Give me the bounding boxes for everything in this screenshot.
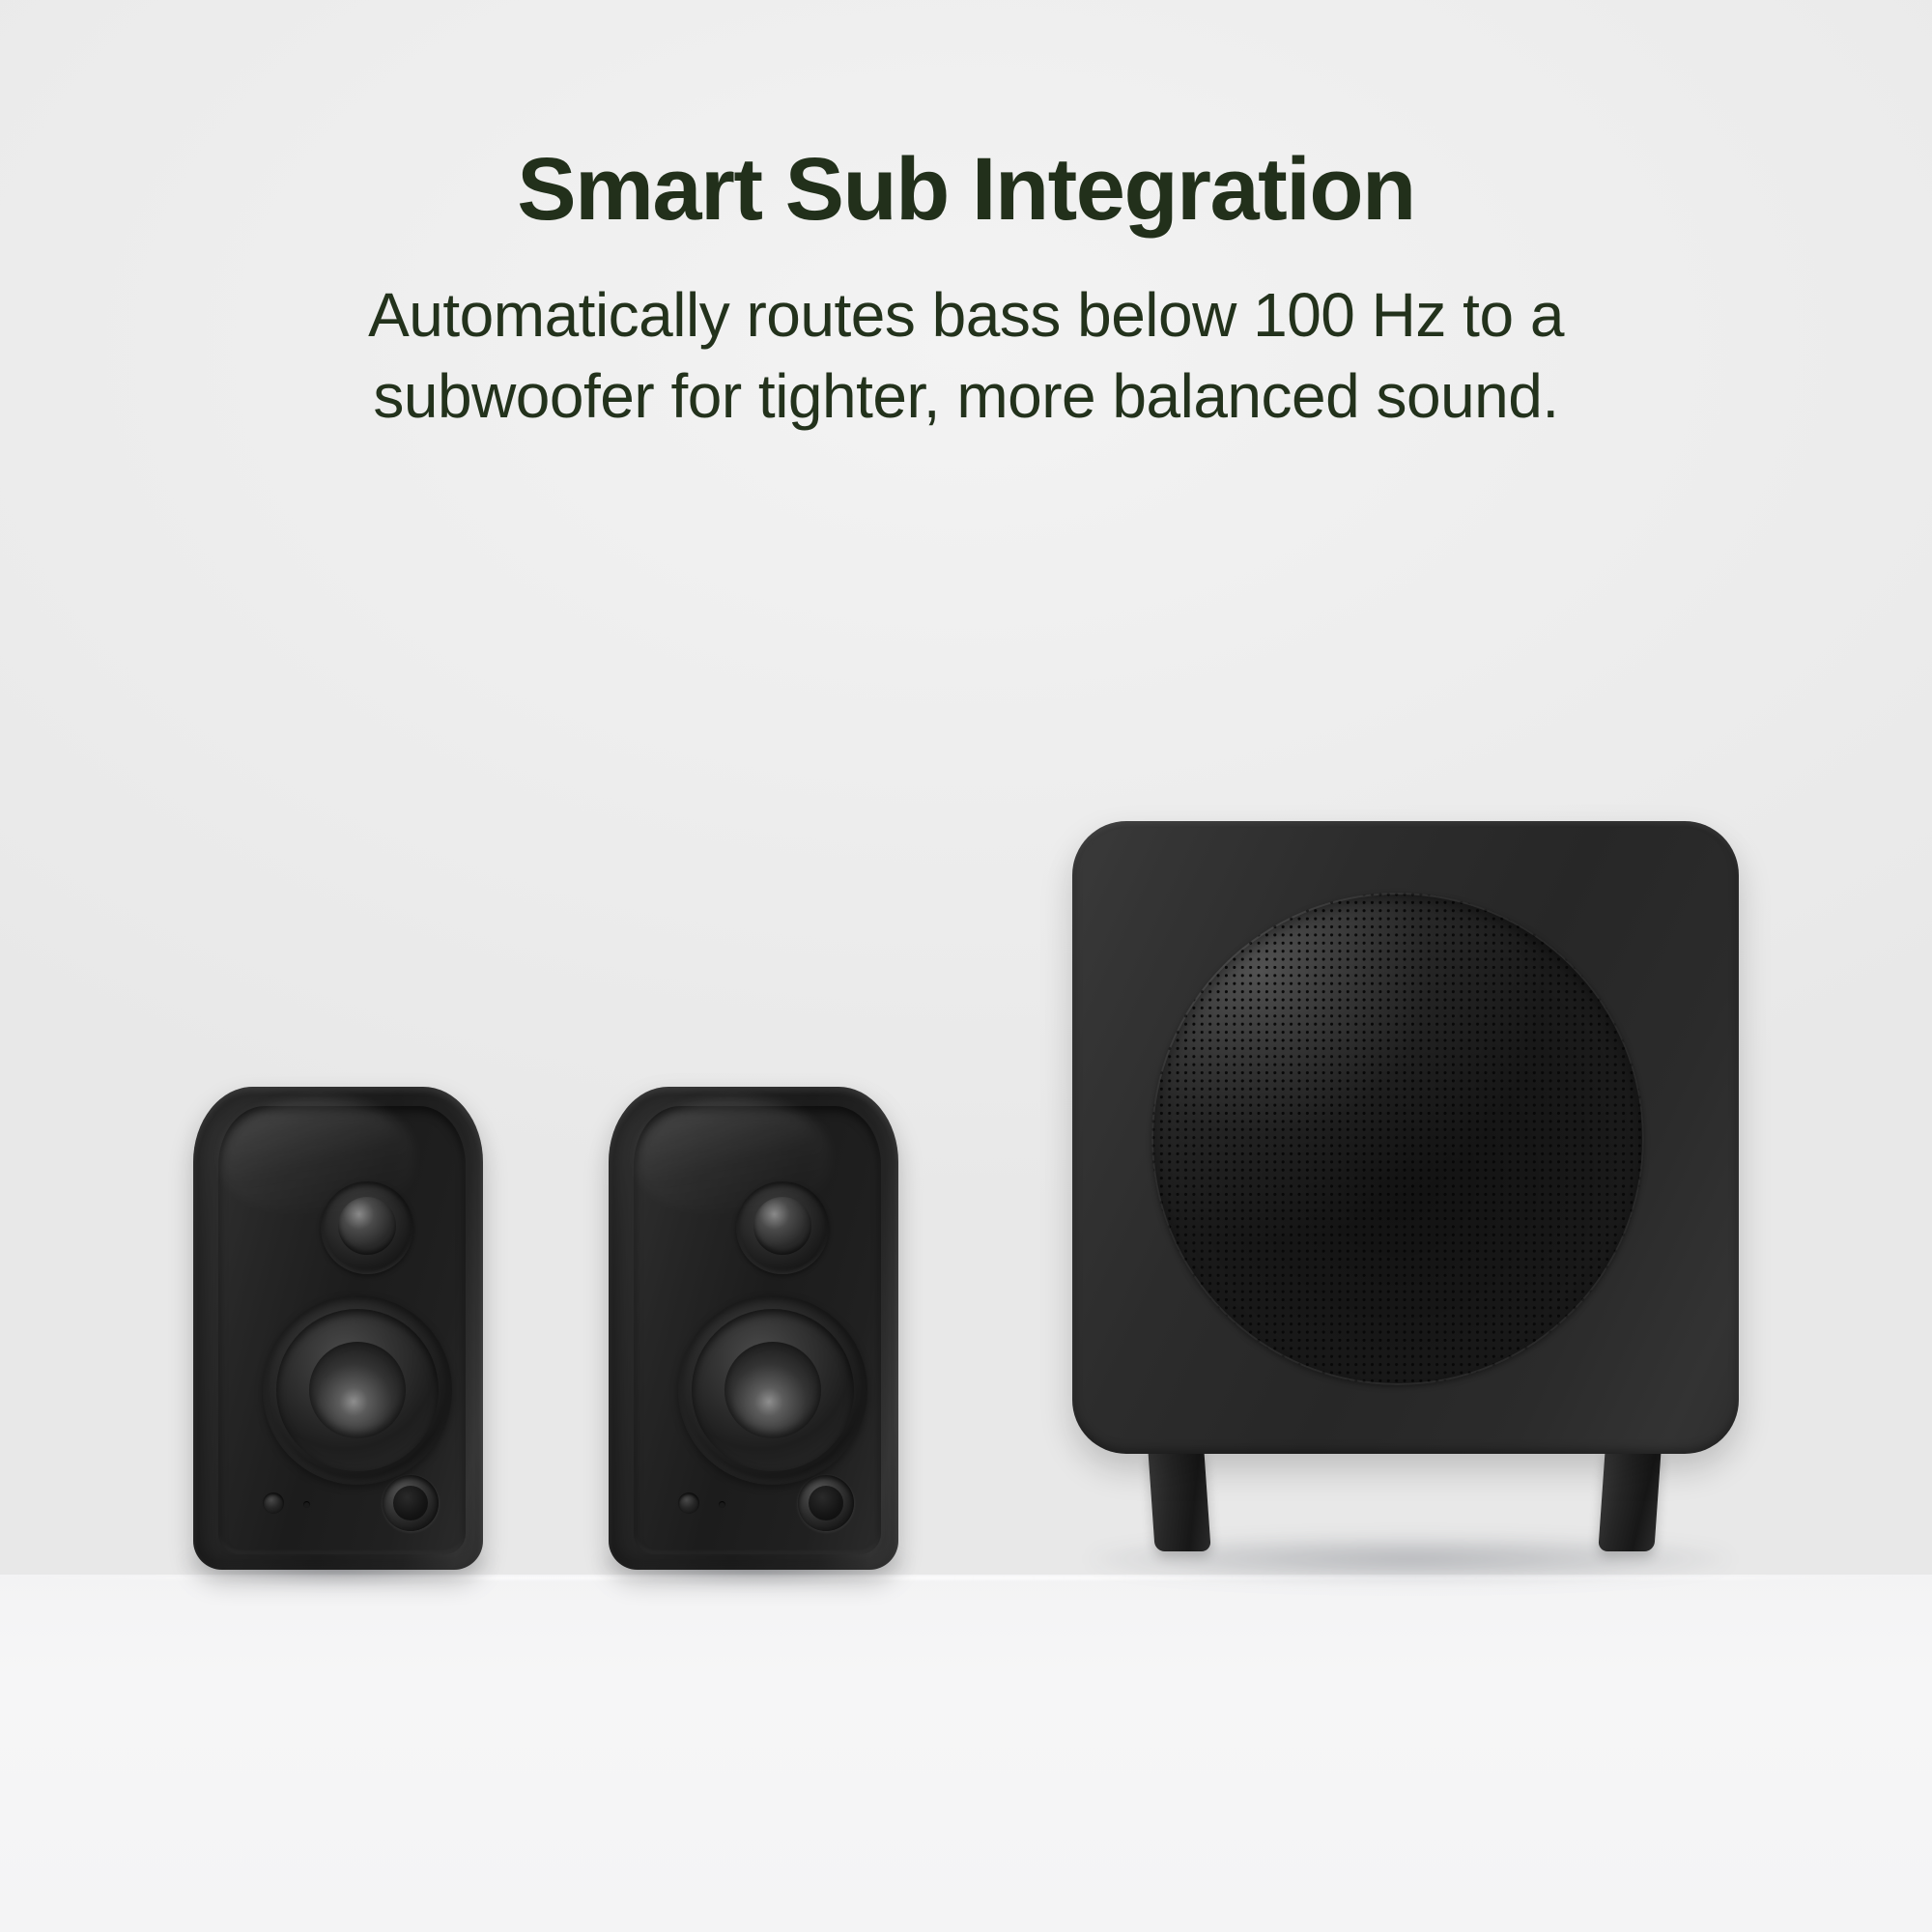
- left-speaker-port-knob: [383, 1475, 439, 1531]
- subwoofer-foot-left: [1148, 1449, 1210, 1551]
- right-speaker-port-knob: [798, 1475, 854, 1531]
- left-speaker-baffle: [218, 1106, 466, 1554]
- promo-card: Smart Sub Integration Automatically rout…: [0, 0, 1932, 1932]
- page-subtitle-line-1: Automatically routes bass below 100 Hz t…: [368, 280, 1564, 350]
- page-title: Smart Sub Integration: [87, 145, 1845, 234]
- page-subtitle: Automatically routes bass below 100 Hz t…: [232, 274, 1700, 438]
- subwoofer-grille-vignette: [1151, 893, 1644, 1385]
- right-speaker-input-jack: [678, 1492, 699, 1514]
- right-speaker-status-led: [719, 1501, 725, 1508]
- subwoofer-cabinet: [1072, 821, 1739, 1454]
- floor-surface: [0, 1575, 1932, 1932]
- right-speaker-baffle: [634, 1106, 881, 1554]
- subwoofer-grille-icon: [1151, 893, 1644, 1385]
- left-speaker-woofer-icon: [263, 1295, 452, 1485]
- right-woofer-cone: [724, 1342, 821, 1438]
- right-bookshelf-speaker: [609, 1087, 898, 1570]
- page-subtitle-line-2: subwoofer for tighter, more balanced sou…: [373, 361, 1558, 431]
- left-bookshelf-speaker: [193, 1087, 483, 1570]
- right-woofer-surround: [692, 1309, 854, 1471]
- left-speaker-cabinet: [193, 1087, 483, 1570]
- subwoofer-foot-right: [1598, 1449, 1661, 1551]
- right-speaker-woofer-icon: [678, 1295, 867, 1485]
- left-speaker-status-led: [303, 1501, 310, 1508]
- right-speaker-cabinet: [609, 1087, 898, 1570]
- left-speaker-tweeter-icon: [321, 1181, 413, 1274]
- headline-block: Smart Sub Integration Automatically rout…: [0, 145, 1932, 438]
- left-woofer-cone: [309, 1342, 406, 1438]
- left-woofer-surround: [276, 1309, 439, 1471]
- right-speaker-tweeter-icon: [736, 1181, 829, 1274]
- subwoofer: [1072, 821, 1739, 1575]
- left-speaker-input-jack: [263, 1492, 284, 1514]
